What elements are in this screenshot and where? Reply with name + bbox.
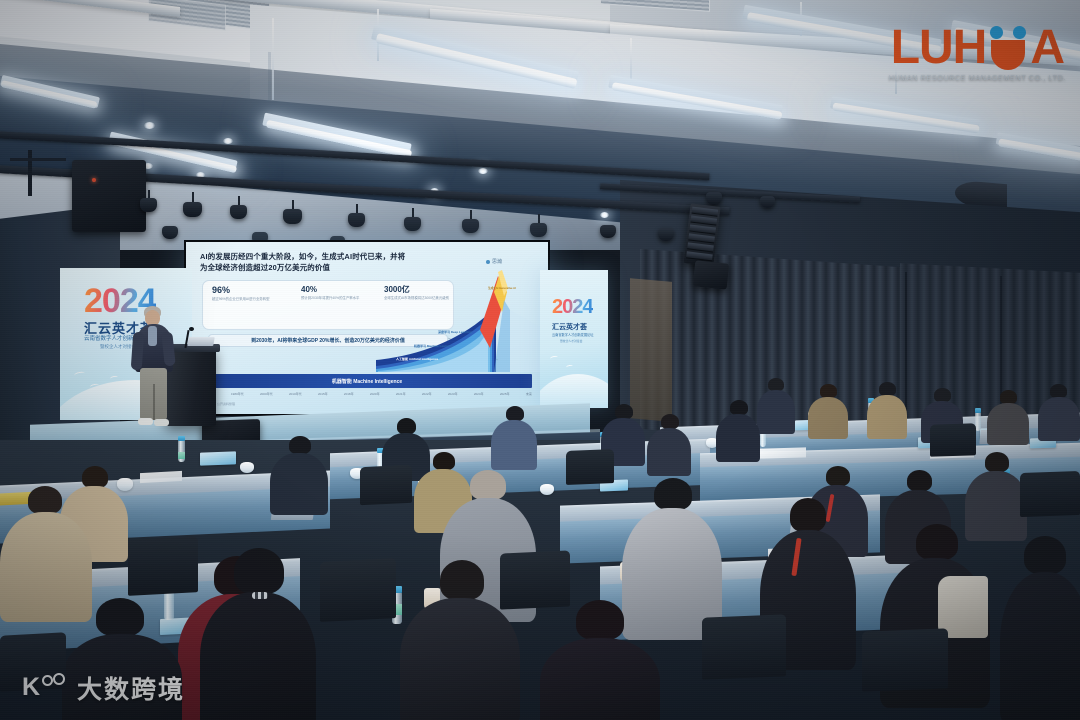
- slide-stat-desc: 超过96%的企业已采用AI进行业务转型: [212, 297, 292, 301]
- slide-stat-value: 96%: [212, 286, 292, 295]
- attendee-hair: [826, 466, 850, 486]
- luhua-wordmark: LUH A: [891, 22, 1064, 70]
- attendee-hair: [28, 486, 62, 514]
- attendee-hair: [576, 600, 624, 640]
- smiley-eye-left-icon: [990, 26, 1003, 39]
- side-bird-2: [566, 364, 573, 368]
- chair-back: [320, 558, 396, 622]
- chair-back: [360, 465, 412, 505]
- attendee-hair: [506, 406, 524, 421]
- slide-timeline: 1950年代 1980年代 2000年代 2010年代 2015年 2018年 …: [202, 392, 532, 396]
- stage-light-8: [530, 223, 547, 237]
- attendee-hair: [433, 452, 455, 470]
- downlight-1: [144, 122, 155, 129]
- slide-logo-dot: [486, 260, 490, 264]
- stage-light-3: [230, 205, 247, 219]
- attendee-hair: [96, 598, 144, 636]
- side-screen-subtitle: 云南省数字人才创新发展论坛: [552, 332, 593, 337]
- stage-light-7: [462, 219, 479, 233]
- chart-layer-label-2: 机器学习 Machine Learning: [414, 344, 452, 348]
- slide-blue-banner: 机器智能 Machine Intelligence: [202, 374, 532, 388]
- timeline-item: 2000年代: [260, 392, 273, 396]
- presenter-shirt: [148, 326, 157, 346]
- attendee: [866, 382, 908, 436]
- timeline-item: 2021年: [396, 392, 406, 396]
- attendee-hair-tie: [252, 592, 268, 599]
- truss-cross-bar: [10, 158, 66, 161]
- attendee: [756, 378, 796, 432]
- watermark-k-letter: K: [22, 675, 40, 700]
- attendee-hair: [470, 470, 506, 500]
- attendee-hair: [82, 466, 108, 488]
- av-equipment-indicator: [92, 178, 96, 182]
- bottle-label: [178, 452, 185, 459]
- led-rod-2: [272, 18, 274, 100]
- presenter-shoe-right: [154, 419, 169, 426]
- attendee-hair: [916, 524, 958, 560]
- chair-back: [500, 550, 570, 609]
- stage-light-1: [140, 198, 157, 212]
- slide-stat-0: 96% 超过96%的企业已采用AI进行业务转型: [212, 286, 292, 301]
- banner-bird-1: [74, 371, 86, 378]
- side-screen-title: 汇云英才荟: [552, 322, 587, 332]
- attendee-torso: [757, 390, 795, 434]
- av-equipment-box: [72, 160, 146, 232]
- chart-layer-label-3: 人工智能 Artificial Intelligence: [396, 357, 438, 361]
- watermark-text: 大数跨境: [77, 670, 185, 706]
- truss-vertical-post: [28, 150, 32, 196]
- slide-stat-value: 40%: [301, 286, 379, 294]
- attendee-hair: [1000, 390, 1017, 404]
- smiley-face-icon: [986, 22, 1030, 70]
- attendee-hair: [879, 382, 896, 396]
- luhua-logo[interactable]: LUH A HUMAN RESOURCE MANAGEMENT CO., LTD…: [889, 22, 1066, 82]
- slide-title-line1: AI的发展历经四个重大阶段，如今，生成式AI时代已来，并将: [200, 251, 405, 262]
- attendee-torso: [200, 592, 316, 720]
- downlight-2: [223, 138, 233, 144]
- downlight-5: [478, 168, 488, 174]
- attendee-torso: [987, 403, 1029, 445]
- stage-light-13: [162, 226, 178, 239]
- podium-laptop: [187, 337, 215, 346]
- conference-photo: AI的发展历经四个重大阶段，如今，生成式AI时代已来，并将 为全球经济创造超过2…: [0, 0, 1080, 720]
- bottle-cap: [975, 408, 981, 413]
- attendee-torso: [716, 414, 760, 462]
- attendee-torso: [270, 453, 328, 515]
- stage-light-4: [283, 209, 302, 224]
- attendee-hair: [1024, 536, 1066, 574]
- chair-back: [862, 628, 948, 691]
- watermark-circle-2-icon: [53, 673, 65, 685]
- attendee: [270, 436, 328, 512]
- timeline-item: 1980年代: [231, 392, 244, 396]
- smiley-mouth-icon: [991, 40, 1025, 70]
- watermark-dashujingjing: K 大数跨境: [22, 670, 185, 706]
- document-paper: [760, 447, 806, 458]
- attendee: [716, 400, 760, 460]
- slide-logo-label: 思瀚: [492, 258, 502, 265]
- attendee: [0, 486, 92, 616]
- tea-cup: [540, 484, 554, 495]
- attendee-hair: [907, 470, 932, 491]
- attendee-torso: [400, 598, 520, 720]
- attendee: [986, 390, 1030, 442]
- attendee-hair: [790, 498, 826, 532]
- attendee: [1000, 536, 1080, 720]
- attendee-torso: [867, 395, 907, 439]
- chart-layer-label-1: 深度学习 Deep Learning: [438, 330, 472, 334]
- side-presentation-screen: 2024 汇云英才荟 云南省数字人才创新发展论坛 暨校企人才对接会: [540, 270, 608, 408]
- attendee: [808, 384, 848, 436]
- attendee-hair: [1050, 384, 1067, 398]
- presenter: [130, 306, 178, 432]
- attendee-hair: [615, 404, 633, 419]
- presenter-leg-split: [153, 384, 155, 420]
- slide-title-line2: 为全球经济创造超过20万亿美元的价值: [200, 262, 330, 273]
- timeline-item: 2015年: [318, 392, 328, 396]
- attendee-hair-ponytail: [234, 548, 284, 594]
- timeline-item: 2025年: [500, 392, 510, 396]
- attendee-torso: [491, 420, 537, 470]
- banner-bird-3: [110, 375, 119, 381]
- attendee-hair: [730, 400, 748, 415]
- timeline-item: 2010年代: [289, 392, 302, 396]
- attendee-hair: [820, 384, 837, 398]
- timeline-item: 未来: [526, 392, 532, 396]
- led-rod-3: [630, 38, 632, 84]
- stage-light-10: [658, 228, 674, 241]
- tea-cup: [240, 462, 254, 473]
- timeline-item: 2018年: [344, 392, 354, 396]
- main-presentation-screen: AI的发展历经四个重大阶段，如今，生成式AI时代已来，并将 为全球经济创造超过2…: [186, 242, 548, 414]
- watermark-logo-icon: K: [22, 673, 68, 703]
- attendee: [490, 406, 538, 468]
- attendee-hair: [661, 414, 679, 429]
- chair-back: [1020, 471, 1080, 517]
- attendee: [200, 548, 316, 720]
- attendee-hair: [934, 388, 951, 402]
- luhua-text-part2: A: [1030, 26, 1064, 70]
- timeline-item: 2020年: [370, 392, 380, 396]
- attendee: [1038, 384, 1080, 438]
- attendee-torso: [647, 428, 691, 476]
- stage-light-6: [404, 217, 421, 231]
- stage-light-11: [706, 192, 722, 205]
- slide-growth-chart: 生成式AI Generative AI 深度学习 Deep Learning 机…: [376, 270, 546, 372]
- luhua-tagline: HUMAN RESOURCE MANAGEMENT CO., LTD.: [889, 73, 1066, 82]
- attendee-torso: [1000, 572, 1080, 720]
- attendee-hair: [985, 452, 1009, 472]
- stage-light-5: [348, 213, 365, 227]
- side-screen-year: 2024: [552, 296, 593, 319]
- attendee-torso: [540, 638, 660, 720]
- stage-light-9: [600, 225, 616, 238]
- podium-microphone-head: [189, 327, 194, 331]
- attendee-hair: [440, 560, 484, 600]
- line-array-sub: [693, 260, 730, 289]
- attendee-torso: [808, 397, 848, 439]
- luhua-text-part1: LUH: [891, 26, 987, 70]
- presenter-shoe-left: [138, 418, 153, 425]
- timeline-item: 2024年: [474, 392, 484, 396]
- timeline-item: 2023年: [448, 392, 458, 396]
- slide-brand-logo: 思瀚: [486, 258, 502, 265]
- wall-door: [630, 278, 672, 422]
- side-bird-1: [550, 355, 559, 361]
- attendee-hair: [397, 418, 416, 434]
- attendee: [646, 414, 692, 474]
- slide-stat-desc: 预计到2030年将提升40%的生产率水平: [301, 296, 379, 300]
- slide-stat-1: 40% 预计到2030年将提升40%的生产率水平: [301, 286, 379, 300]
- attendee-torso: [1038, 397, 1080, 441]
- name-card: [200, 451, 236, 465]
- presenter-arm-right: [161, 332, 175, 367]
- chair-back: [128, 536, 198, 596]
- downlight-9: [600, 212, 609, 218]
- chair-back: [930, 423, 976, 456]
- chart-layer-label-0: 生成式AI Generative AI: [488, 286, 516, 290]
- attendee: [540, 600, 660, 720]
- stage-light-2: [183, 202, 202, 217]
- smiley-eye-right-icon: [1013, 26, 1026, 39]
- attendee-hair: [289, 436, 311, 454]
- timeline-item: 2022年: [422, 392, 432, 396]
- side-screen-subtitle2: 暨校企人才对接会: [560, 339, 582, 343]
- chair-back: [566, 449, 614, 485]
- chair-back: [702, 614, 786, 680]
- bottle-cap: [178, 436, 185, 441]
- watermark-circle-1-icon: [42, 675, 53, 686]
- attendee-hair: [654, 478, 692, 510]
